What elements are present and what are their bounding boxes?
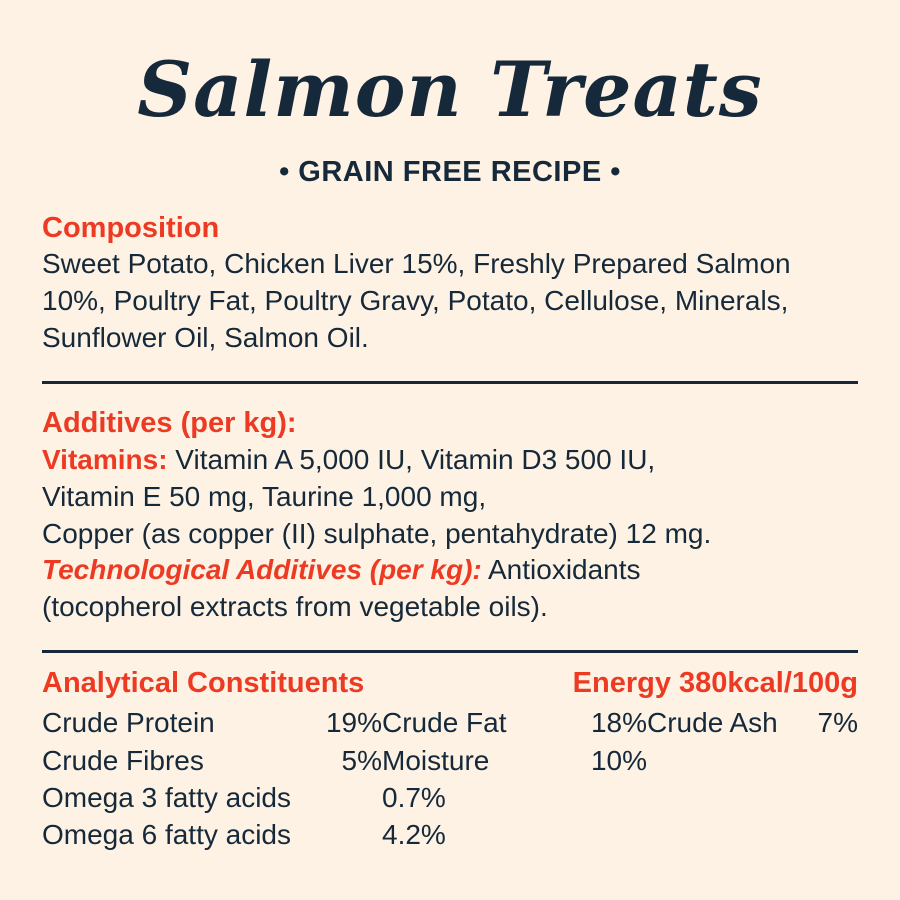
- composition-line: Sunflower Oil, Salmon Oil.: [42, 320, 858, 357]
- composition-line: 10%, Poultry Fat, Poultry Gravy, Potato,…: [42, 283, 858, 320]
- analytical-table: Crude Protein 19% Crude Fat 18% Crude As…: [42, 704, 858, 853]
- table-row: Omega 3 fatty acids 0.7%: [42, 779, 858, 816]
- nutrient-name: Crude Protein: [42, 704, 267, 741]
- energy-value: Energy 380kcal/100g: [573, 667, 858, 700]
- nutrient-name: Crude Ash: [647, 704, 797, 741]
- vitamins-label: Vitamins:: [42, 444, 168, 475]
- analytical-constituents-section: Analytical Constituents Energy 380kcal/1…: [42, 653, 858, 853]
- pet-food-label: Salmon Treats • GRAIN FREE RECIPE • Comp…: [0, 0, 900, 900]
- analytical-constituents-heading: Analytical Constituents: [42, 667, 364, 700]
- table-row: Omega 6 fatty acids 4.2%: [42, 816, 858, 853]
- technological-additives-label: Technological Additives (per kg):: [42, 554, 482, 585]
- nutrient-value: 19%: [267, 704, 382, 741]
- additives-line: Copper (as copper (II) sulphate, pentahy…: [42, 516, 858, 553]
- additives-line: Vitamin E 50 mg, Taurine 1,000 mg,: [42, 479, 858, 516]
- additives-heading: Additives (per kg):: [42, 406, 858, 441]
- nutrient-name: Omega 6 fatty acids: [42, 816, 382, 853]
- nutrient-name: Moisture: [382, 742, 542, 779]
- analytical-header-row: Analytical Constituents Energy 380kcal/1…: [42, 653, 858, 700]
- table-row: Crude Protein 19% Crude Fat 18% Crude As…: [42, 704, 858, 741]
- composition-line: Sweet Potato, Chicken Liver 15%, Freshly…: [42, 246, 858, 283]
- technological-additives-text: Antioxidants: [482, 554, 641, 585]
- technological-additives-line: Technological Additives (per kg): Antiox…: [42, 552, 858, 589]
- nutrient-name: Crude Fat: [382, 704, 542, 741]
- nutrient-name: [647, 742, 797, 779]
- nutrient-value: [797, 742, 858, 779]
- composition-section: Composition Sweet Potato, Chicken Liver …: [42, 189, 858, 357]
- recipe-subtitle: • GRAIN FREE RECIPE •: [42, 128, 858, 189]
- page-title: Salmon Treats: [42, 0, 858, 128]
- nutrient-value: 5%: [267, 742, 382, 779]
- nutrient-name: Omega 3 fatty acids: [42, 779, 382, 816]
- additives-section: Additives (per kg): Vitamins: Vitamin A …: [42, 384, 858, 626]
- nutrient-value: 10%: [542, 742, 647, 779]
- vitamins-line: Vitamins: Vitamin A 5,000 IU, Vitamin D3…: [42, 442, 858, 479]
- technological-additives-line: (tocopherol extracts from vegetable oils…: [42, 589, 858, 626]
- nutrient-name: Crude Fibres: [42, 742, 267, 779]
- vitamins-text: Vitamin A 5,000 IU, Vitamin D3 500 IU,: [168, 444, 656, 475]
- table-row: Crude Fibres 5% Moisture 10%: [42, 742, 858, 779]
- nutrient-value: 0.7%: [382, 779, 858, 816]
- composition-heading: Composition: [42, 211, 858, 246]
- nutrient-value: 7%: [797, 704, 858, 741]
- nutrient-value: 18%: [542, 704, 647, 741]
- nutrient-value: 4.2%: [382, 816, 858, 853]
